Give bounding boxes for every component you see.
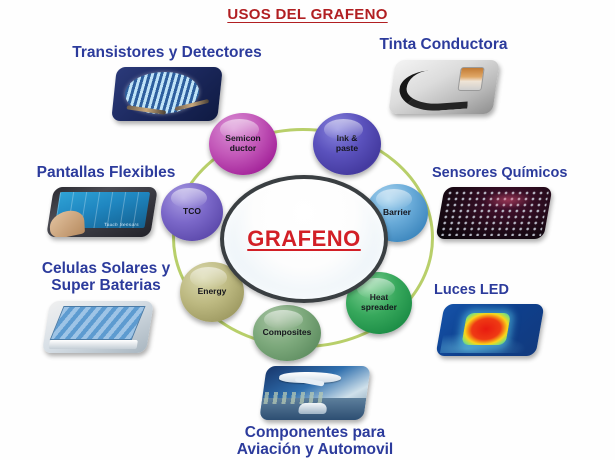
car-icon bbox=[298, 403, 328, 414]
center-hub-label: GRAFENO bbox=[247, 226, 361, 252]
bubble-semiconductor[interactable]: Semiconductor bbox=[209, 113, 277, 175]
callout-label: Sensores Químicos bbox=[430, 165, 610, 181]
battery-edge-icon bbox=[49, 340, 138, 349]
page-title: USOS DEL GRAFENO bbox=[0, 6, 615, 23]
flexible-touchscreen-photo: Touch Sensors bbox=[46, 187, 158, 237]
callout-label: Celulas Solares ySuper Baterias bbox=[6, 260, 206, 295]
bubble-label: Barrier bbox=[383, 208, 411, 218]
solar-cells-icon bbox=[50, 306, 146, 340]
thermal-led-photo bbox=[435, 304, 544, 356]
callout-label: Tinta Conductora bbox=[356, 36, 531, 53]
screen-caption: Touch Sensors bbox=[104, 222, 140, 227]
conductive-ink-photo bbox=[388, 60, 500, 114]
callout-transistores-detectores: Transistores y Detectores bbox=[52, 44, 282, 121]
thermal-hotspot-icon bbox=[461, 313, 511, 345]
callout-celulas-solares: Celulas Solares ySuper Baterias bbox=[6, 260, 206, 353]
callout-label: Luces LED bbox=[432, 282, 607, 298]
bubble-composites[interactable]: Composites bbox=[253, 305, 321, 361]
callout-label: Transistores y Detectores bbox=[52, 44, 282, 61]
lattice-glow-icon bbox=[482, 191, 535, 209]
silicon-wafer-photo bbox=[111, 67, 223, 121]
hand-icon bbox=[49, 208, 85, 237]
graphene-lattice-photo bbox=[435, 187, 552, 239]
bubble-label: Ink &paste bbox=[336, 134, 358, 153]
callout-componentes-aviacion-automovil: Componentes paraAviación y Automovil bbox=[190, 366, 440, 459]
bubble-label: Composites bbox=[263, 328, 312, 338]
infographic-canvas: USOS DEL GRAFENO GRAFENO Semiconductor I… bbox=[0, 0, 615, 460]
plane-and-car-photo bbox=[259, 366, 371, 420]
callout-label: Componentes paraAviación y Automovil bbox=[190, 424, 440, 459]
callout-sensores-quimicos: Sensores Químicos bbox=[430, 165, 610, 239]
callout-luces-led: Luces LED bbox=[432, 282, 607, 356]
solar-panel-photo bbox=[42, 301, 154, 353]
bubble-ink-paste[interactable]: Ink &paste bbox=[313, 113, 381, 175]
callout-tinta-conductora: Tinta Conductora bbox=[356, 36, 531, 114]
callout-pantallas-flexibles: Pantallas Flexibles Touch Sensors bbox=[6, 164, 206, 237]
ink-jar-icon bbox=[457, 67, 484, 91]
bubble-label: Heatspreader bbox=[361, 293, 397, 312]
bubble-label: Semiconductor bbox=[225, 134, 260, 153]
callout-label: Pantallas Flexibles bbox=[6, 164, 206, 181]
center-hub: GRAFENO bbox=[220, 175, 388, 303]
